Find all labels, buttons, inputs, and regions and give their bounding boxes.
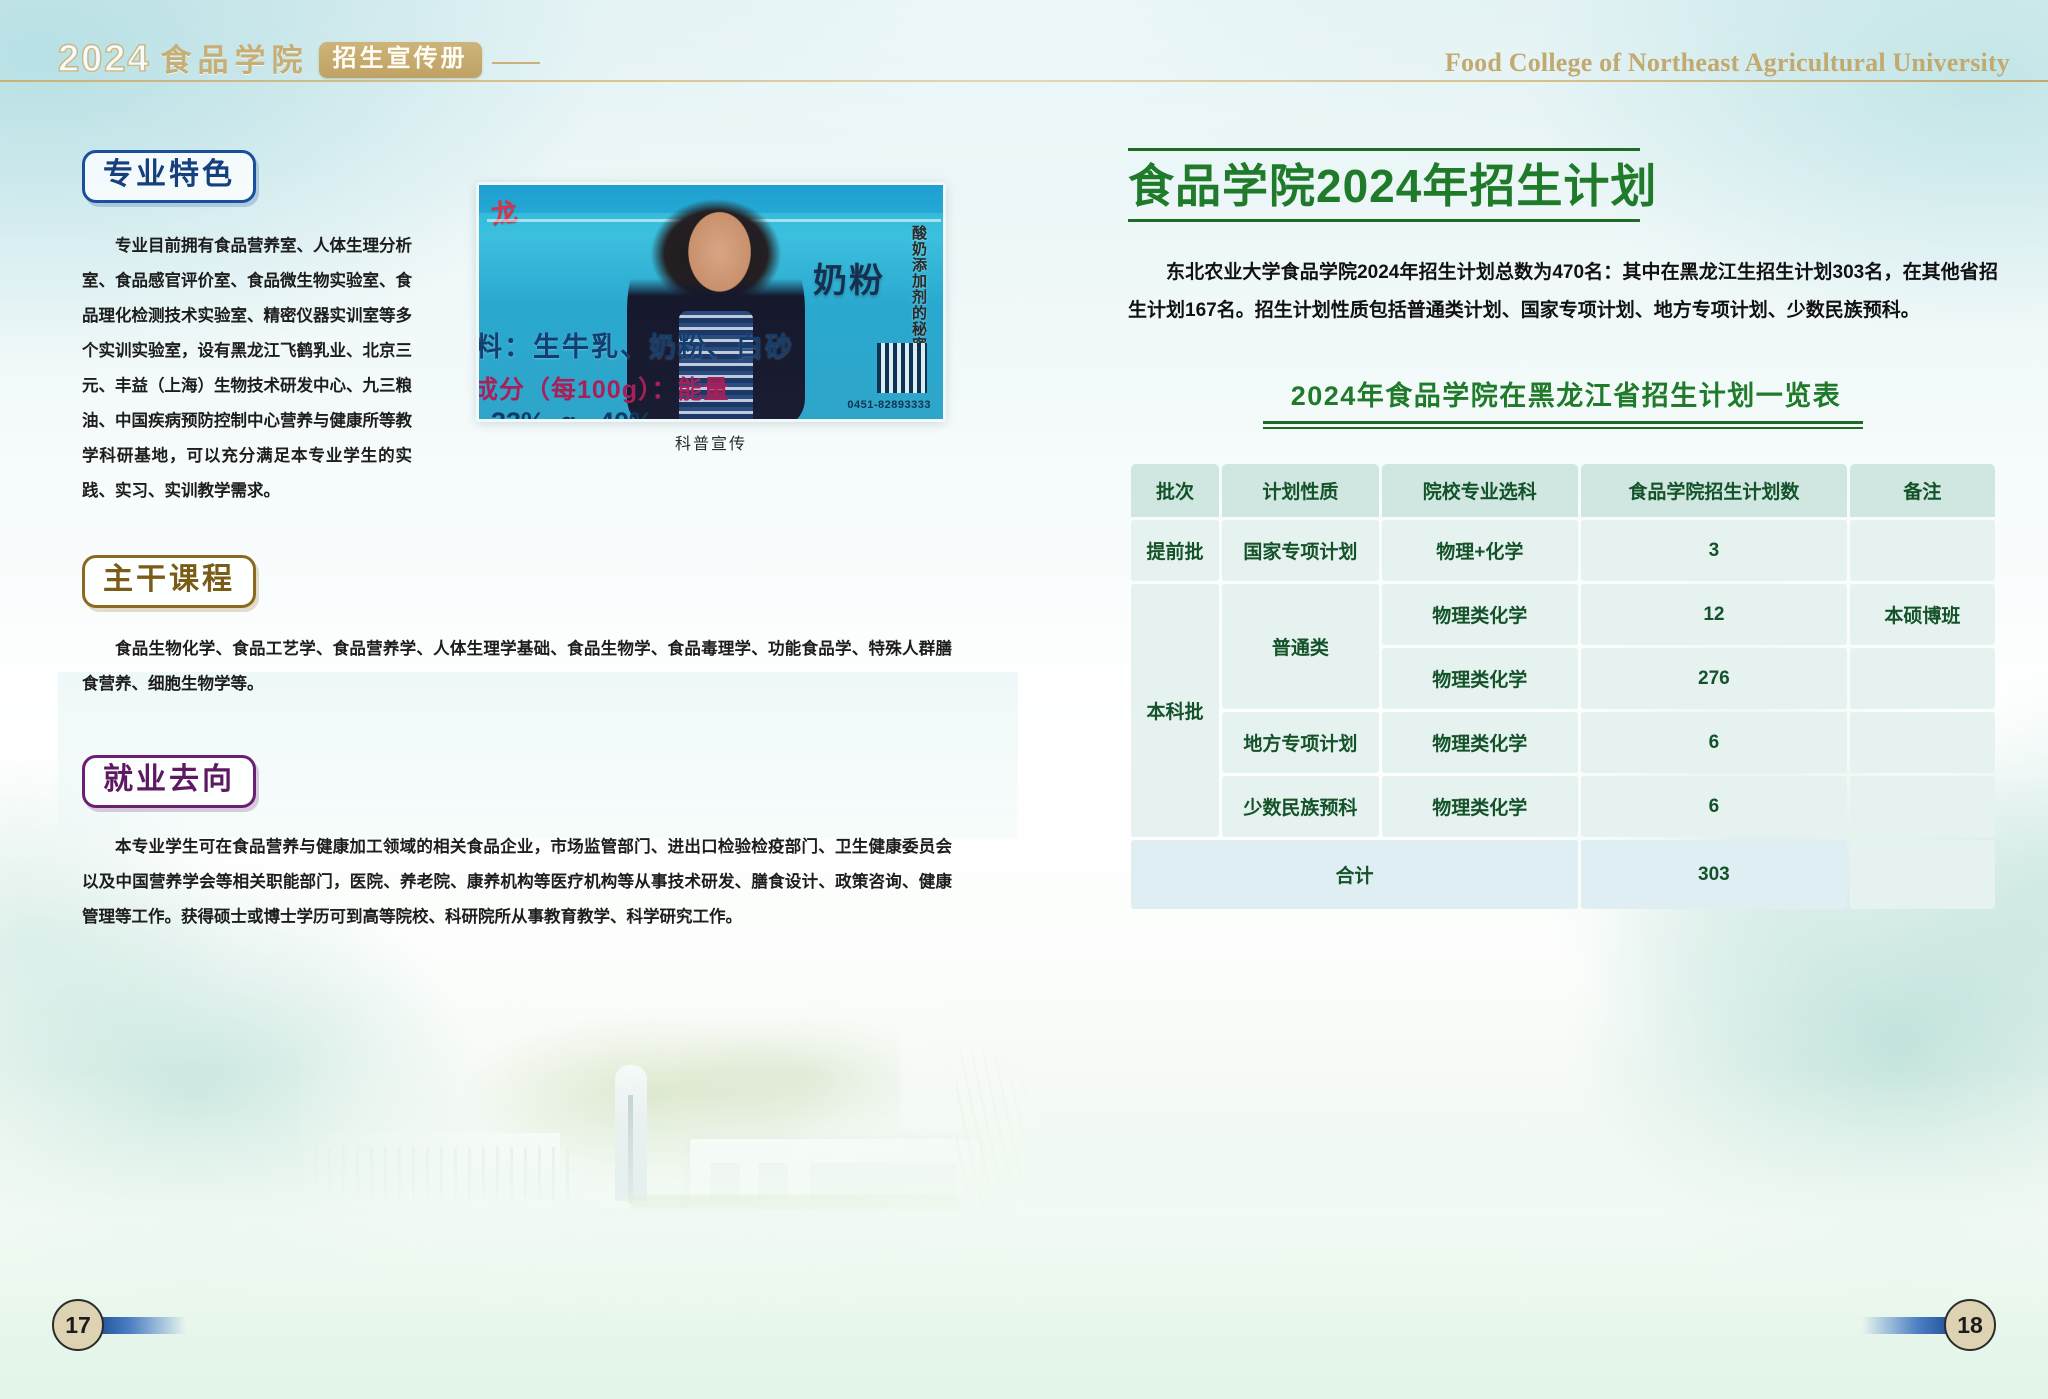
cell-note bbox=[1850, 712, 1995, 773]
table-title-rules bbox=[1263, 421, 1863, 429]
cell-note bbox=[1850, 648, 1995, 709]
cell-note bbox=[1850, 520, 1995, 581]
cell-batch: 提前批 bbox=[1131, 520, 1219, 581]
cell-count: 6 bbox=[1581, 776, 1847, 837]
cell-subject: 物理类化学 bbox=[1382, 712, 1578, 773]
table-row: 少数民族预科 物理类化学 6 bbox=[1131, 776, 1995, 837]
page-number-left-bar bbox=[96, 1317, 186, 1334]
section-body-career-paths: 本专业学生可在食品营养与健康加工领域的相关食品企业，市场监管部门、进出口检验检疫… bbox=[82, 830, 952, 935]
brand-year: 2024 bbox=[58, 40, 151, 78]
tv-station-logo: 龙 bbox=[489, 191, 520, 231]
cell-nature: 普通类 bbox=[1222, 584, 1379, 709]
cell-count: 6 bbox=[1581, 712, 1847, 773]
page-number-left: 17 bbox=[52, 1299, 186, 1351]
section-body-core-courses: 食品生物化学、食品工艺学、食品营养学、人体生理学基础、食品生物学、食品毒理学、功… bbox=[82, 632, 952, 702]
table-row: 本科批 普通类 物理类化学 12 本硕博班 bbox=[1131, 584, 1995, 645]
section-core-courses: 主干课程 食品生物化学、食品工艺学、食品营养学、人体生理学基础、食品生物学、食品… bbox=[82, 555, 952, 702]
science-popularization-photo-block: 龙 奶粉 酸奶添加剂的秘密 料：生牛乳、奶粉、白砂 成分（每100g）：能量 3… bbox=[476, 182, 946, 454]
cell-batch: 本科批 bbox=[1131, 584, 1219, 837]
section-tag-professional-features: 专业特色 bbox=[82, 150, 256, 203]
page-title: 食品学院2024年招生计划 bbox=[1128, 155, 1998, 217]
page-number-right: 18 bbox=[1862, 1299, 1996, 1351]
cell-subject: 物理类化学 bbox=[1382, 648, 1578, 709]
page-number-right-value: 18 bbox=[1944, 1299, 1996, 1351]
cell-nature: 国家专项计划 bbox=[1222, 520, 1379, 581]
tv-caption-milk-powder: 奶粉 bbox=[813, 253, 885, 302]
heading-rule-bottom bbox=[1128, 219, 1640, 222]
admission-plan-table: 批次 计划性质 院校专业选科 食品学院招生计划数 备注 提前批 国家专项计划 物… bbox=[1128, 461, 1998, 912]
column-header-nature: 计划性质 bbox=[1222, 464, 1379, 517]
column-header-subject: 院校专业选科 bbox=[1382, 464, 1578, 517]
section-professional-features: 专业特色 专业目前拥有食品营养室、人体生理分析室、食品感官评价室、食品微生物实验… bbox=[82, 150, 412, 509]
cell-count: 3 bbox=[1581, 520, 1847, 581]
cell-note bbox=[1850, 776, 1995, 837]
qr-code-icon bbox=[877, 343, 927, 393]
header-rule-right bbox=[1024, 80, 2048, 82]
section-tag-core-courses: 主干课程 bbox=[82, 555, 256, 608]
cell-subject: 物理类化学 bbox=[1382, 776, 1578, 837]
cell-note: 本硕博班 bbox=[1850, 584, 1995, 645]
cell-count: 12 bbox=[1581, 584, 1847, 645]
page-number-right-bar bbox=[1862, 1317, 1952, 1334]
table-title: 2024年食品学院在黑龙江省招生计划一览表 bbox=[1128, 374, 1998, 413]
cell-nature: 地方专项计划 bbox=[1222, 712, 1379, 773]
section-career-paths: 就业去向 本专业学生可在食品营养与健康加工领域的相关食品企业，市场监管部门、进出… bbox=[82, 755, 952, 935]
table-title-rule-thin bbox=[1263, 427, 1863, 429]
table-row: 地方专项计划 物理类化学 6 bbox=[1131, 712, 1995, 773]
brand-lockup: 2024 食品学院 招生宣传册 bbox=[58, 40, 540, 78]
section-body-professional-features: 专业目前拥有食品营养室、人体生理分析室、食品感官评价室、食品微生物实验室、食品理… bbox=[82, 229, 412, 509]
science-popularization-photo: 龙 奶粉 酸奶添加剂的秘密 料：生牛乳、奶粉、白砂 成分（每100g）：能量 3… bbox=[476, 182, 946, 422]
table-title-rule-thick bbox=[1263, 421, 1863, 424]
table-header-row: 批次 计划性质 院校专业选科 食品学院招生计划数 备注 bbox=[1131, 464, 1995, 517]
cell-total-label: 合计 bbox=[1131, 840, 1578, 909]
brand-college-name: 食品学院 bbox=[161, 45, 309, 78]
cell-count: 276 bbox=[1581, 648, 1847, 709]
right-column: 食品学院2024年招生计划 东北农业大学食品学院2024年招生计划总数为470名… bbox=[1128, 148, 1998, 912]
page-number-left-value: 17 bbox=[52, 1299, 104, 1351]
heading-rule-top bbox=[1128, 148, 1640, 151]
brochure-spread: 2024 食品学院 招生宣传册 Food College of Northeas… bbox=[0, 0, 2048, 1399]
cell-subject: 物理类化学 bbox=[1382, 584, 1578, 645]
brand-tail-rule bbox=[492, 62, 540, 64]
header-english-title: Food College of Northeast Agricultural U… bbox=[1445, 48, 2010, 78]
photo-caption: 科普宣传 bbox=[476, 430, 946, 454]
column-header-note: 备注 bbox=[1850, 464, 1995, 517]
cell-nature: 少数民族预科 bbox=[1222, 776, 1379, 837]
table-total-row: 合计 303 bbox=[1131, 840, 1995, 909]
column-header-batch: 批次 bbox=[1131, 464, 1219, 517]
header-rule-left bbox=[0, 80, 1024, 82]
tv-hotline-number: 0451-82893333 bbox=[847, 399, 931, 411]
cell-total-note bbox=[1850, 840, 1995, 909]
brand-badge: 招生宣传册 bbox=[319, 42, 482, 78]
background-mist bbox=[0, 1069, 2048, 1399]
tv-caption-row-1: 料：生牛乳、奶粉、白砂 bbox=[476, 325, 946, 364]
column-header-count: 食品学院招生计划数 bbox=[1581, 464, 1847, 517]
table-row: 提前批 国家专项计划 物理+化学 3 bbox=[1131, 520, 1995, 581]
section-tag-career-paths: 就业去向 bbox=[82, 755, 256, 808]
cell-total-value: 303 bbox=[1581, 840, 1847, 909]
admission-plan-intro: 东北农业大学食品学院2024年招生计划总数为470名：其中在黑龙江生招生计划30… bbox=[1128, 254, 1998, 330]
cell-subject: 物理+化学 bbox=[1382, 520, 1578, 581]
